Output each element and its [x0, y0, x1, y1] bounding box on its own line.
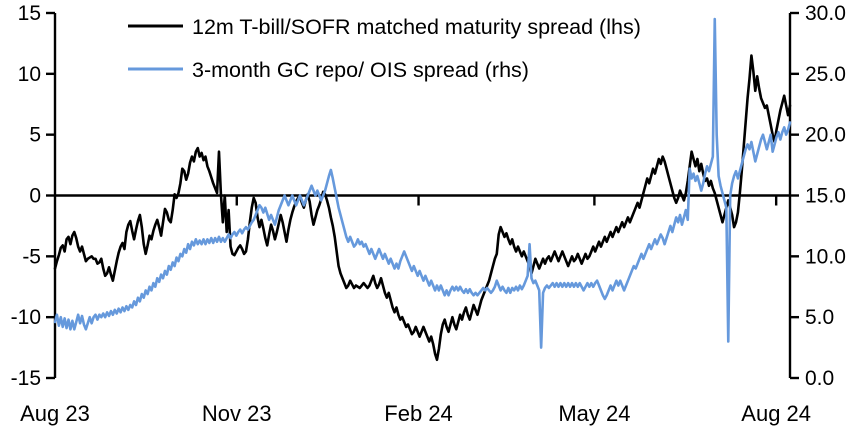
- left-axis-tick-label: -15: [11, 367, 41, 390]
- legend-label-1: 12m T-bill/SOFR matched maturity spread …: [192, 15, 641, 39]
- left-axis-tick-label: 5: [29, 124, 41, 147]
- x-axis-tick-label: May 24: [558, 401, 630, 426]
- right-axis-tick-label: 20.0: [805, 124, 846, 147]
- right-axis-tick-label: 15.0: [805, 185, 846, 208]
- x-axis-ticks: Aug 23Nov 23Feb 24May 24Aug 24: [20, 196, 811, 427]
- left-axis: 151050-5-10-15: [11, 2, 55, 390]
- chart-container: 151050-5-10-15 30.025.020.015.010.05.00.…: [0, 0, 852, 432]
- right-axis: 30.025.020.015.010.05.00.0: [790, 2, 846, 390]
- left-axis-tick-label: -5: [22, 245, 41, 268]
- x-axis-tick-label: Feb 24: [384, 401, 453, 426]
- left-axis-tick-label: 0: [29, 185, 41, 208]
- x-axis-tick-label: Nov 23: [202, 401, 272, 426]
- legend-label-2: 3-month GC repo/ OIS spread (rhs): [192, 58, 529, 82]
- left-axis-tick-label: -10: [11, 306, 41, 329]
- right-axis-tick-label: 25.0: [805, 63, 846, 86]
- chart-legend: 12m T-bill/SOFR matched maturity spread …: [128, 15, 641, 82]
- line-chart: 151050-5-10-15 30.025.020.015.010.05.00.…: [0, 0, 852, 432]
- x-axis-tick-label: Aug 24: [741, 401, 811, 426]
- right-axis-tick-label: 5.0: [805, 306, 834, 329]
- x-axis-tick-label: Aug 23: [20, 401, 90, 426]
- left-axis-tick-label: 10: [18, 63, 41, 86]
- series-line-1: [55, 56, 790, 360]
- left-axis-tick-label: 15: [18, 2, 41, 25]
- right-axis-tick-label: 30.0: [805, 2, 846, 25]
- right-axis-tick-label: 10.0: [805, 245, 846, 268]
- right-axis-tick-label: 0.0: [805, 367, 834, 390]
